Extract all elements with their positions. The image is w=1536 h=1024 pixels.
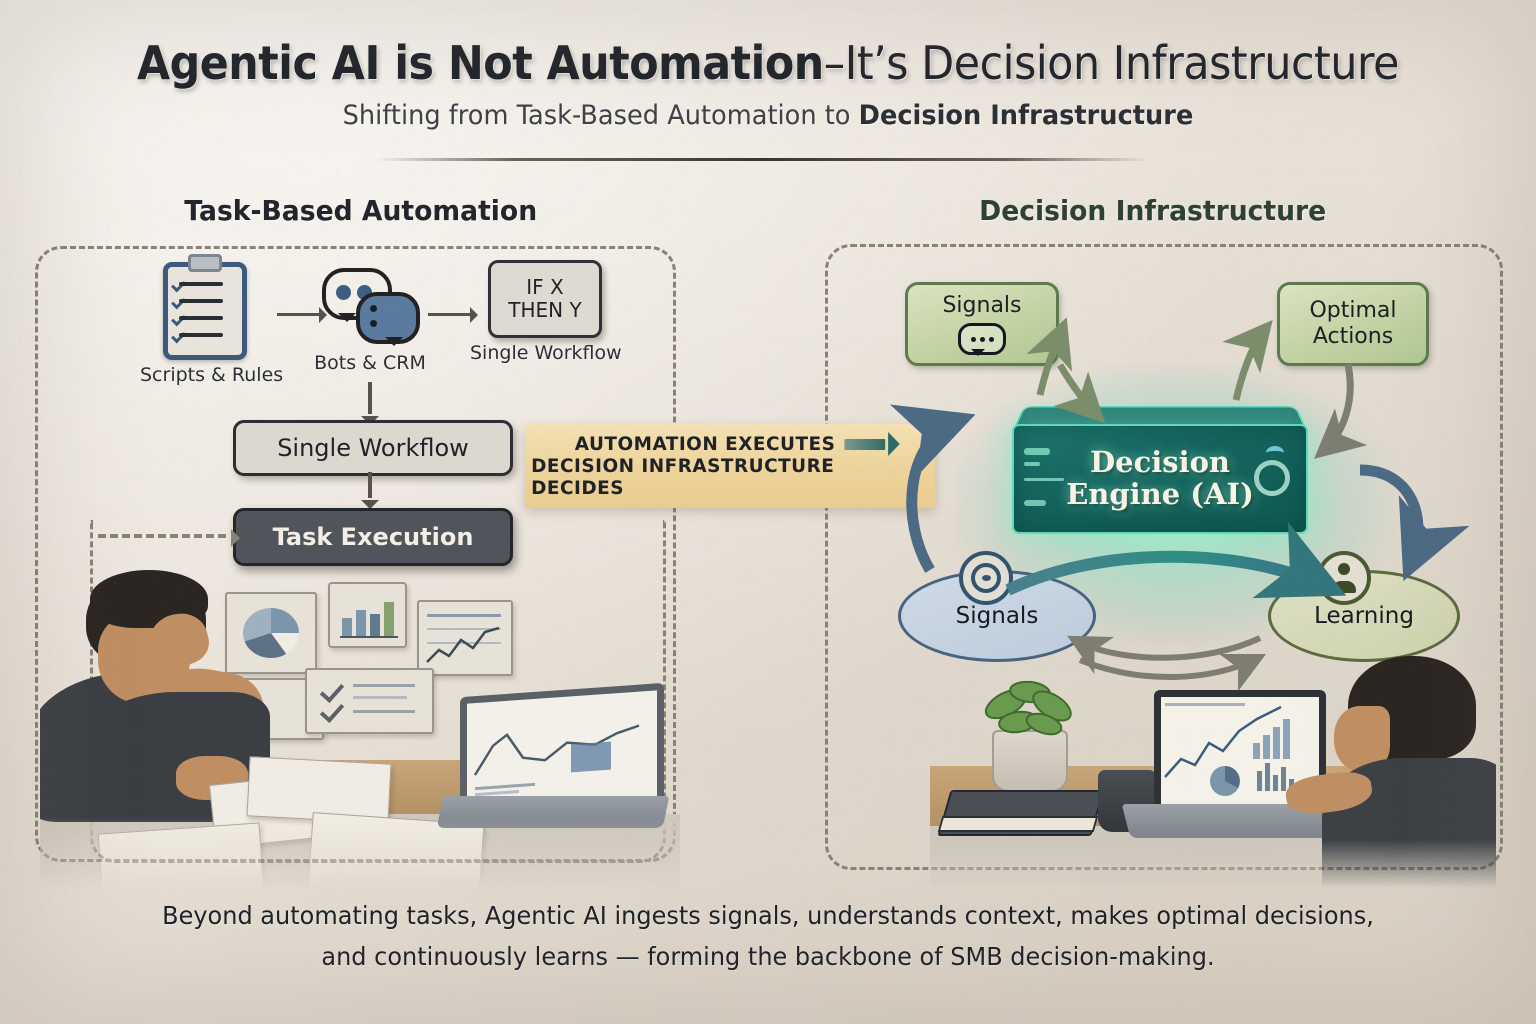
bots-and-crm-label: Bots & CRM	[300, 352, 440, 374]
single-workflow-caption: Single Workflow	[470, 342, 620, 364]
page-title: Agentic AI is Not Automation–It’s Decisi…	[54, 36, 1482, 90]
right-arrow-icon	[844, 439, 885, 450]
optimal-actions-line-2: Actions	[1313, 324, 1393, 350]
focused-person-illustration: Man working calmly on a laptop showing d…	[930, 648, 1496, 888]
signals-feedback-label: Signals	[956, 603, 1039, 629]
banner-line-2: DECISION INFRASTRUCTURE DECIDES	[531, 455, 929, 499]
engine-label: Decision Engine (AI)	[1066, 447, 1254, 511]
flow-arrow-down-1	[368, 382, 372, 414]
bots-and-crm-node: Bots & CRM	[300, 262, 440, 374]
rule-line-2: THEN Y	[508, 299, 581, 322]
engine-line-2: Engine (AI)	[1066, 477, 1254, 511]
caption-line-1: Beyond automating tasks, Agentic AI inge…	[162, 901, 1374, 930]
single-workflow-box: Single Workflow	[233, 420, 513, 476]
title-main: Agentic AI is Not Automation	[137, 36, 824, 90]
signals-input-label: Signals	[942, 293, 1021, 319]
caption-line-2: and continuously learns — forming the ba…	[321, 942, 1214, 971]
banner-line-1-row: AUTOMATION EXECUTES	[575, 433, 885, 455]
clipboard-checklist-icon	[163, 262, 247, 360]
subtitle-emphasis: Decision Infrastructure	[859, 100, 1194, 131]
speech-bubble-icon	[958, 323, 1006, 355]
wifi-icon	[1266, 446, 1284, 460]
rule-node: IF X THEN Y Single Workflow	[470, 260, 620, 364]
rule-box-icon: IF X THEN Y	[488, 260, 602, 338]
scripts-and-rules-label: Scripts & Rules	[140, 364, 270, 386]
title-tail: –It’s Decision Infrastructure	[824, 36, 1399, 90]
learning-label: Learning	[1314, 603, 1414, 629]
engine-line-1: Decision	[1090, 445, 1230, 479]
page-subtitle: Shifting from Task-Based Automation to D…	[38, 100, 1497, 131]
signals-input-box: Signals	[905, 282, 1059, 366]
infographic-canvas: Agentic AI is Not Automation–It’s Decisi…	[0, 0, 1536, 1024]
left-panel-heading: Task-Based Automation	[184, 194, 537, 227]
subtitle-prefix: Shifting from Task-Based Automation to	[343, 100, 859, 131]
flow-arrow-down-2	[368, 472, 372, 498]
engine-front-face: Decision Engine (AI)	[1012, 424, 1308, 534]
eye-target-icon	[959, 551, 1013, 605]
chat-bubbles-icon	[322, 262, 418, 348]
plant-icon	[976, 674, 1084, 738]
right-panel-heading: Decision Infrastructure	[979, 194, 1326, 227]
scripts-and-rules-node: Scripts & Rules	[140, 262, 270, 386]
task-execution-box: Task Execution	[233, 508, 513, 566]
footer-caption: Beyond automating tasks, Agentic AI inge…	[136, 896, 1399, 977]
feedback-arrow	[98, 534, 226, 541]
header-divider	[375, 158, 1150, 161]
gear-icon	[1254, 460, 1290, 496]
optimal-actions-line-1: Optimal	[1309, 298, 1396, 324]
comparison-banner: AUTOMATION EXECUTES DECISION INFRASTRUCT…	[525, 424, 935, 508]
rule-line-1: IF X	[526, 276, 563, 299]
optimal-actions-box: Optimal Actions	[1277, 282, 1429, 366]
flow-arrow-2	[428, 313, 476, 316]
banner-line-1: AUTOMATION EXECUTES	[575, 433, 836, 455]
overwhelmed-person-illustration: Stressed man holding his head, writing i…	[40, 560, 680, 890]
decision-engine-block: Decision Engine (AI)	[1012, 398, 1304, 530]
person-badge-icon	[1317, 551, 1371, 605]
